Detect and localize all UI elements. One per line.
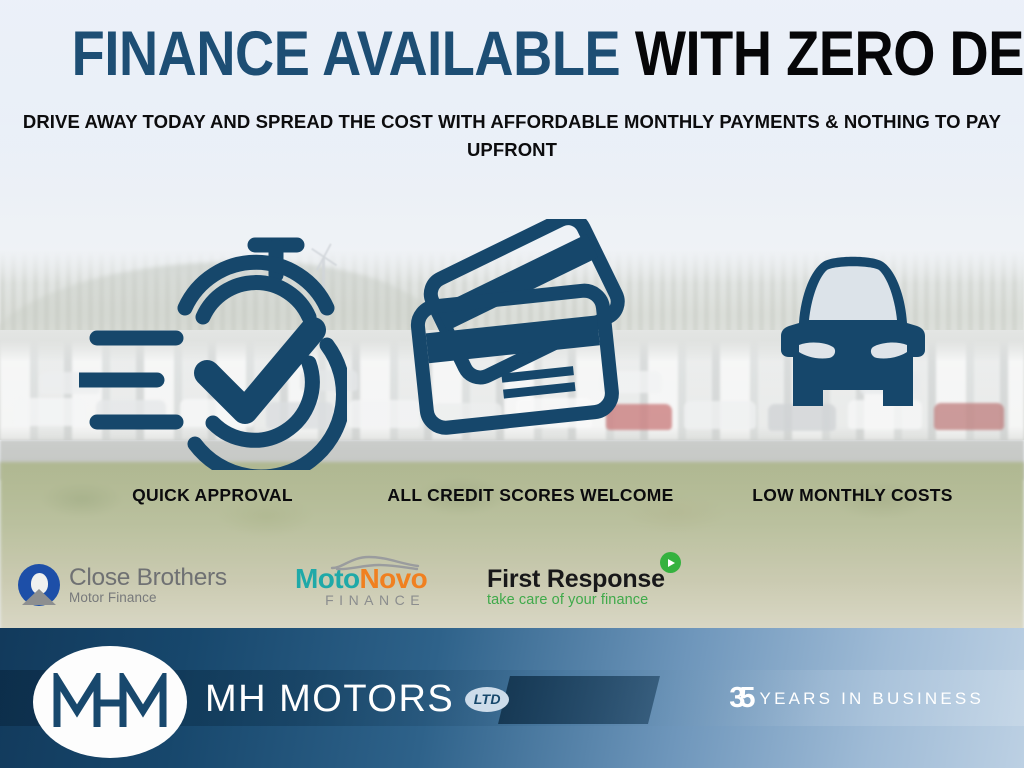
logo-first-response: First Response take care of your finance xyxy=(487,566,665,609)
headline-black-part: WITH ZERO DEPOSIT xyxy=(635,19,1024,89)
years-number: 35 xyxy=(729,684,755,713)
car-front-icon xyxy=(700,205,1005,485)
credit-cards-icon xyxy=(378,205,683,485)
first-response-tagline: take care of your finance xyxy=(487,592,665,609)
brand-lockup: MH MOTORS LTD xyxy=(205,679,509,719)
ltd-badge: LTD xyxy=(465,687,509,712)
headline-blue-part: FINANCE AVAILABLE xyxy=(72,19,621,89)
brand-name: MH MOTORS xyxy=(205,679,454,719)
headline: FINANCE AVAILABLE WITH ZERO DEPOSIT xyxy=(72,22,953,86)
logo-motonovo: MotoNovo FINANCE xyxy=(295,565,427,608)
stopwatch-check-icon xyxy=(60,205,365,485)
feature-label: LOW MONTHLY COSTS xyxy=(700,485,1005,506)
mhm-monogram-icon xyxy=(51,673,169,731)
feature-low-monthly-costs: LOW MONTHLY COSTS xyxy=(700,205,1005,506)
close-brothers-name: Close Brothers xyxy=(69,566,227,590)
logo-close-brothers: Close Brothers Motor Finance xyxy=(18,564,227,606)
mhm-logo-badge xyxy=(33,646,187,758)
banner-accent-tab xyxy=(498,676,660,724)
years-text: YEARS IN BUSINESS xyxy=(760,689,984,709)
subheadline: DRIVE AWAY TODAY AND SPREAD THE COST WIT… xyxy=(22,108,1002,164)
feature-all-credit-scores: ALL CREDIT SCORES WELCOME xyxy=(378,205,683,506)
finance-partner-logos: Close Brothers Motor Finance MotoNovo FI… xyxy=(0,556,1024,620)
years-in-business: 35 YEARS IN BUSINESS xyxy=(729,684,984,713)
finance-advert-poster: FINANCE AVAILABLE WITH ZERO DEPOSIT DRIV… xyxy=(0,0,1024,768)
play-button-icon xyxy=(660,552,681,573)
feature-label: QUICK APPROVAL xyxy=(60,485,365,506)
close-brothers-mark-icon xyxy=(18,564,60,606)
motonovo-tagline: FINANCE xyxy=(295,592,427,608)
close-brothers-tagline: Motor Finance xyxy=(69,590,227,605)
feature-quick-approval: QUICK APPROVAL xyxy=(60,205,365,506)
motonovo-car-icon xyxy=(329,553,421,573)
first-response-name: First Response xyxy=(487,566,665,592)
feature-label: ALL CREDIT SCORES WELCOME xyxy=(378,485,683,506)
